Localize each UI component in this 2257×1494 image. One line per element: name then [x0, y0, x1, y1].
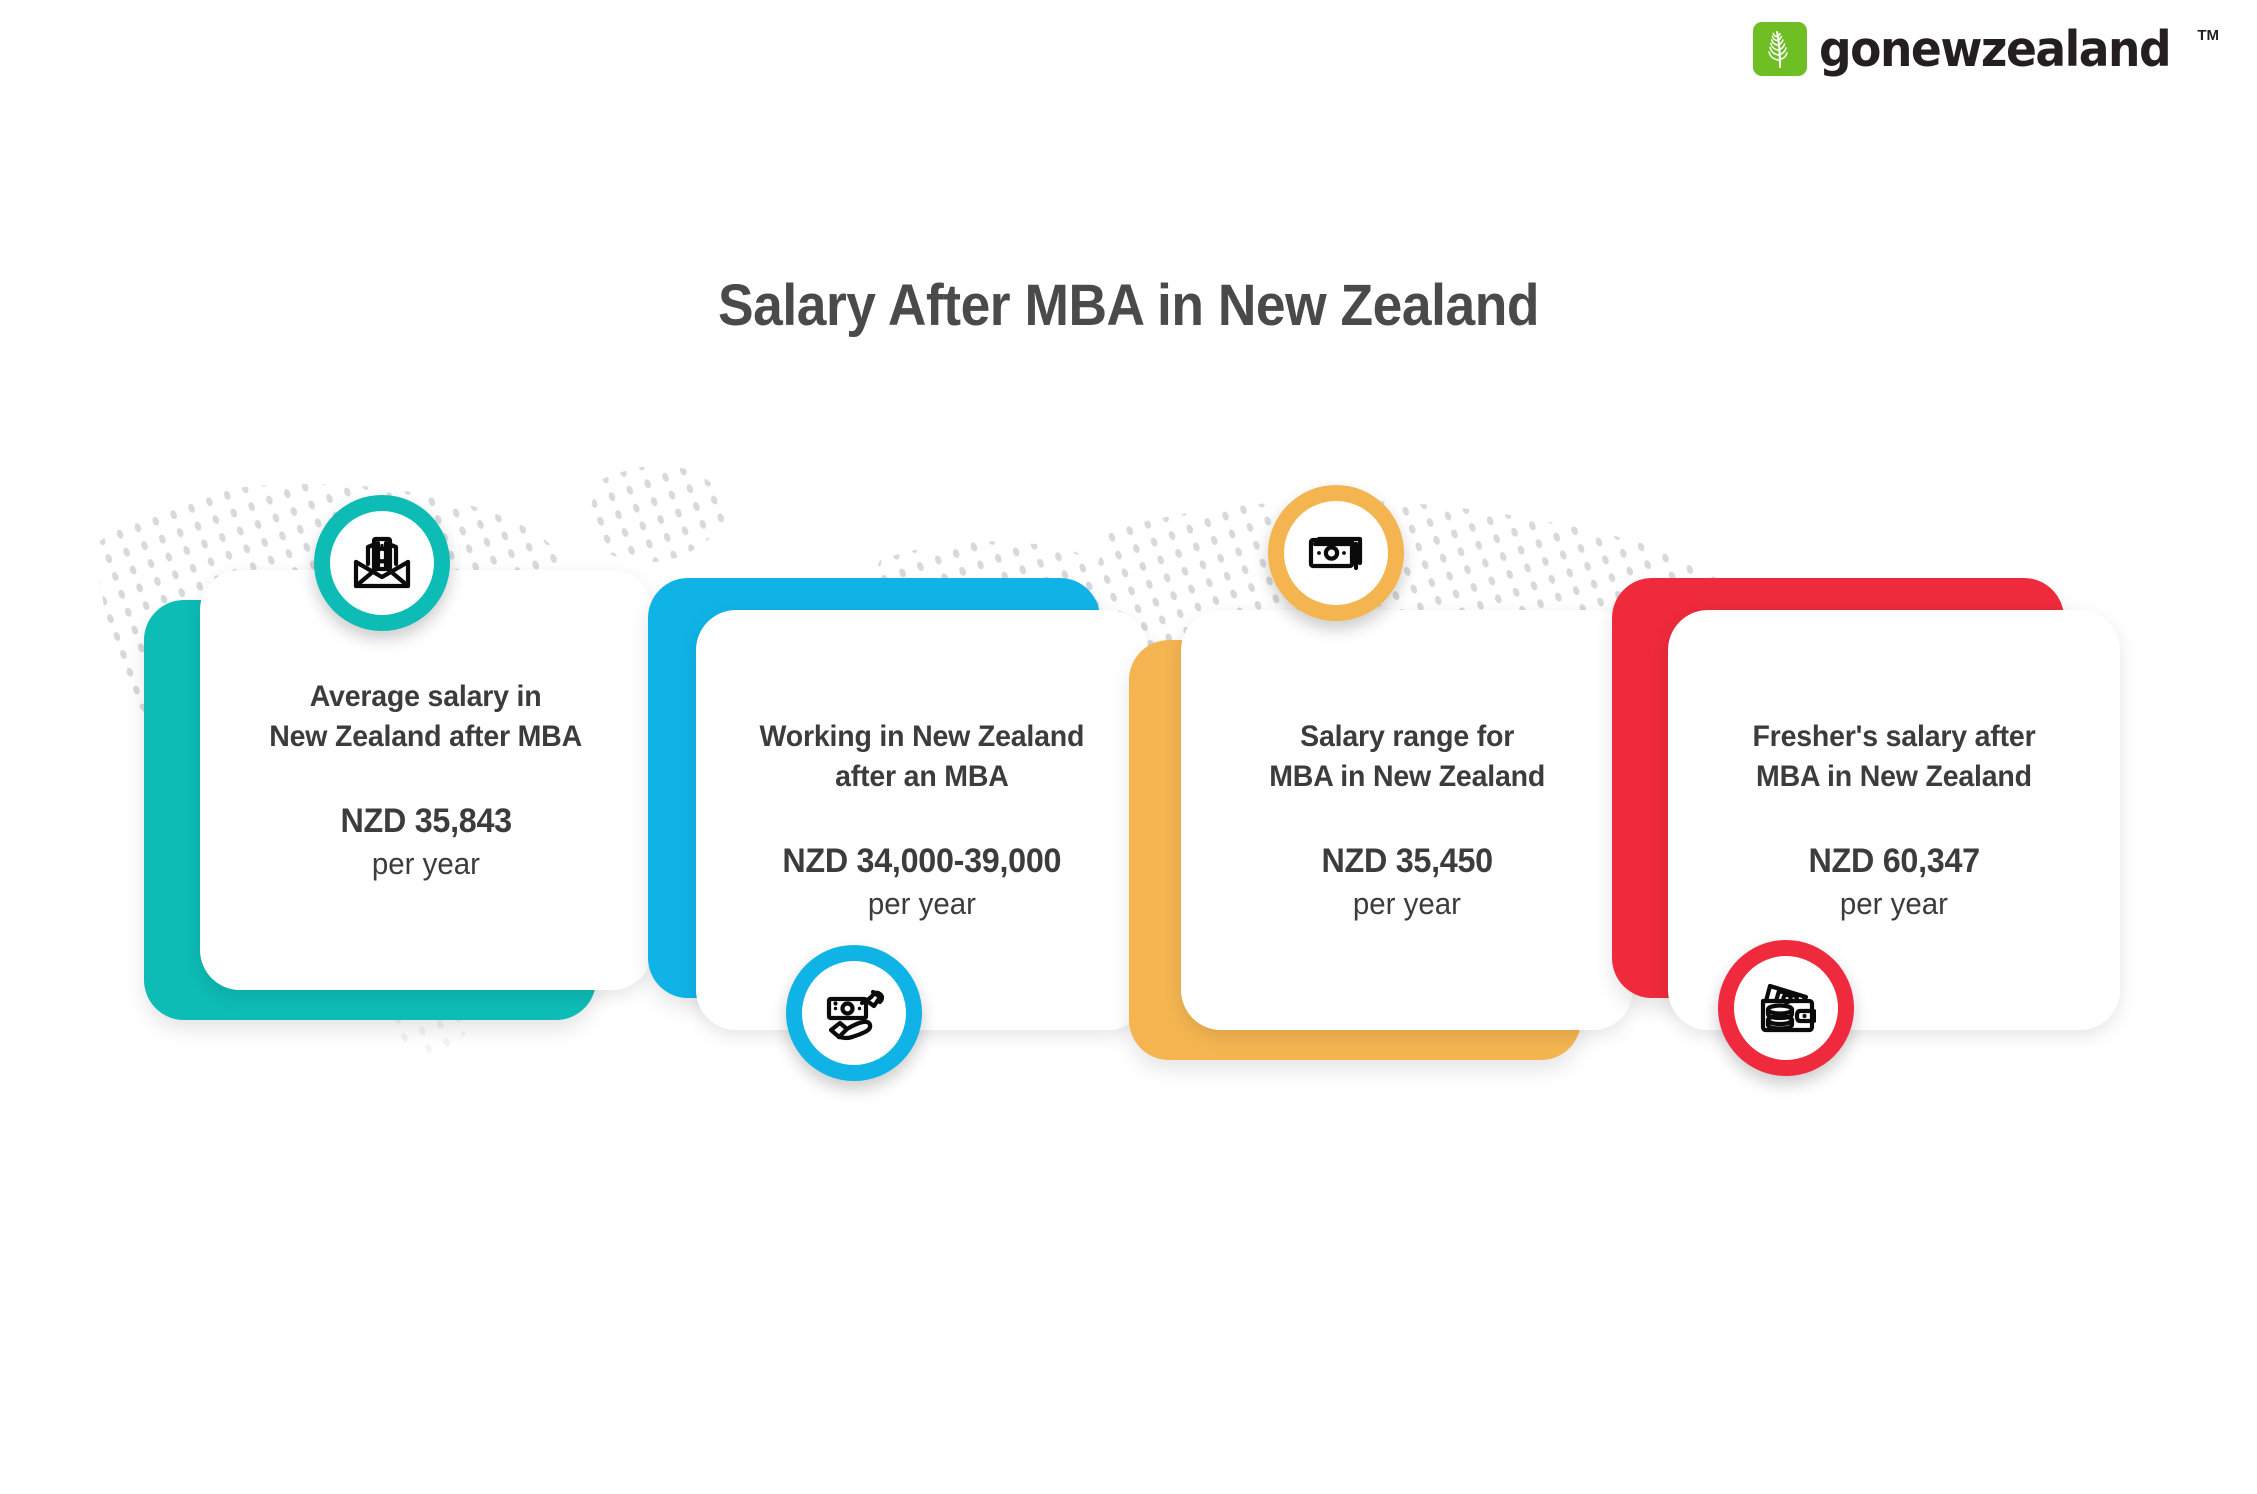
- card-salary-range[interactable]: Salary range for MBA in New Zealand NZD …: [1155, 610, 1607, 1030]
- card-face: Salary range for MBA in New Zealand NZD …: [1181, 610, 1633, 1030]
- card-unit: per year: [1353, 885, 1461, 922]
- wallet-with-coins-icon: [1734, 956, 1838, 1060]
- card-face: Working in New Zealand after an MBA NZD …: [696, 610, 1148, 1030]
- card-average-salary[interactable]: Average salary in New Zealand after MBA …: [172, 570, 624, 990]
- badge-working-in-nz: [786, 945, 922, 1081]
- page-title: Salary After MBA in New Zealand: [90, 272, 2166, 339]
- card-heading-line2: MBA in New Zealand: [1269, 760, 1545, 793]
- badge-salary-range: [1268, 485, 1404, 621]
- badge-fresher-salary: [1718, 940, 1854, 1076]
- card-value: NZD 34,000-39,000: [783, 841, 1062, 882]
- card-row: Average salary in New Zealand after MBA …: [0, 0, 2257, 1494]
- card-unit: per year: [372, 845, 480, 882]
- banknote-stack-icon: [1284, 501, 1388, 605]
- envelope-with-money-icon: [330, 511, 434, 615]
- card-unit: per year: [868, 885, 976, 922]
- money-in-hands-icon: [802, 961, 906, 1065]
- fern-leaf-icon: [1753, 22, 1807, 76]
- card-fresher-salary[interactable]: Fresher's salary after MBA in New Zealan…: [1640, 610, 2092, 1030]
- card-value: NZD 35,450: [1321, 841, 1492, 882]
- trademark-symbol: TM: [2197, 27, 2219, 44]
- card-unit: per year: [1840, 885, 1948, 922]
- badge-average-salary: [314, 495, 450, 631]
- card-heading-line1: Average salary in: [310, 680, 542, 713]
- card-heading: Working in New Zealand after an MBA: [760, 717, 1085, 796]
- card-value: NZD 35,843: [340, 801, 511, 842]
- site-logo[interactable]: gonewzealand TM: [1753, 22, 2219, 76]
- card-heading-line2: New Zealand after MBA: [270, 720, 583, 753]
- card-face: Average salary in New Zealand after MBA …: [200, 570, 652, 990]
- card-heading-line1: Fresher's salary after: [1752, 720, 2035, 753]
- card-value: NZD 60,347: [1808, 841, 1979, 882]
- card-heading-line1: Working in New Zealand: [760, 720, 1085, 753]
- card-heading-line1: Salary range for: [1300, 720, 1514, 753]
- card-heading: Average salary in New Zealand after MBA: [270, 677, 583, 756]
- card-heading-line2: MBA in New Zealand: [1756, 760, 2032, 793]
- card-heading: Fresher's salary after MBA in New Zealan…: [1752, 717, 2035, 796]
- card-heading-line2: after an MBA: [835, 760, 1008, 793]
- logo-wordmark: gonewzealand: [1819, 25, 2170, 74]
- card-heading: Salary range for MBA in New Zealand: [1269, 717, 1545, 796]
